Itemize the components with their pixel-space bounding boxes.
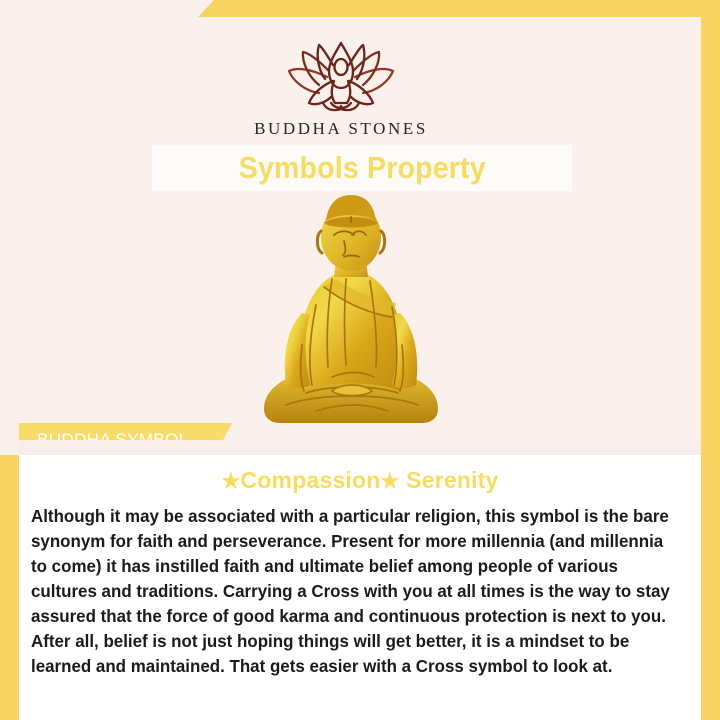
poster-root: BUDDHA STONES Symbols Property bbox=[0, 0, 720, 720]
lotus-meditation-icon bbox=[279, 41, 403, 113]
content-paragraph: Although it may be associated with a par… bbox=[31, 504, 679, 679]
title-band: Symbols Property bbox=[152, 145, 572, 191]
lower-content-panel: ★Compassion★ Serenity Although it may be… bbox=[19, 455, 701, 720]
content-headline: ★Compassion★ Serenity bbox=[19, 467, 701, 494]
upper-panel: BUDDHA STONES Symbols Property bbox=[0, 17, 701, 455]
brand-name: BUDDHA STONES bbox=[0, 119, 682, 139]
star-icon-left: ★ bbox=[221, 470, 240, 493]
brand-logo-block: BUDDHA STONES bbox=[0, 41, 682, 139]
headline-word-compassion: Compassion bbox=[241, 467, 381, 493]
panel-divider bbox=[19, 440, 701, 455]
golden-seated-buddha-illustration bbox=[246, 195, 456, 427]
right-yellow-strip-decoration bbox=[701, 0, 720, 720]
star-icon-right: ★ bbox=[381, 470, 400, 493]
headline-word-serenity: Serenity bbox=[406, 467, 498, 493]
top-yellow-band-decoration bbox=[198, 0, 720, 17]
page-title: Symbols Property bbox=[238, 150, 485, 186]
